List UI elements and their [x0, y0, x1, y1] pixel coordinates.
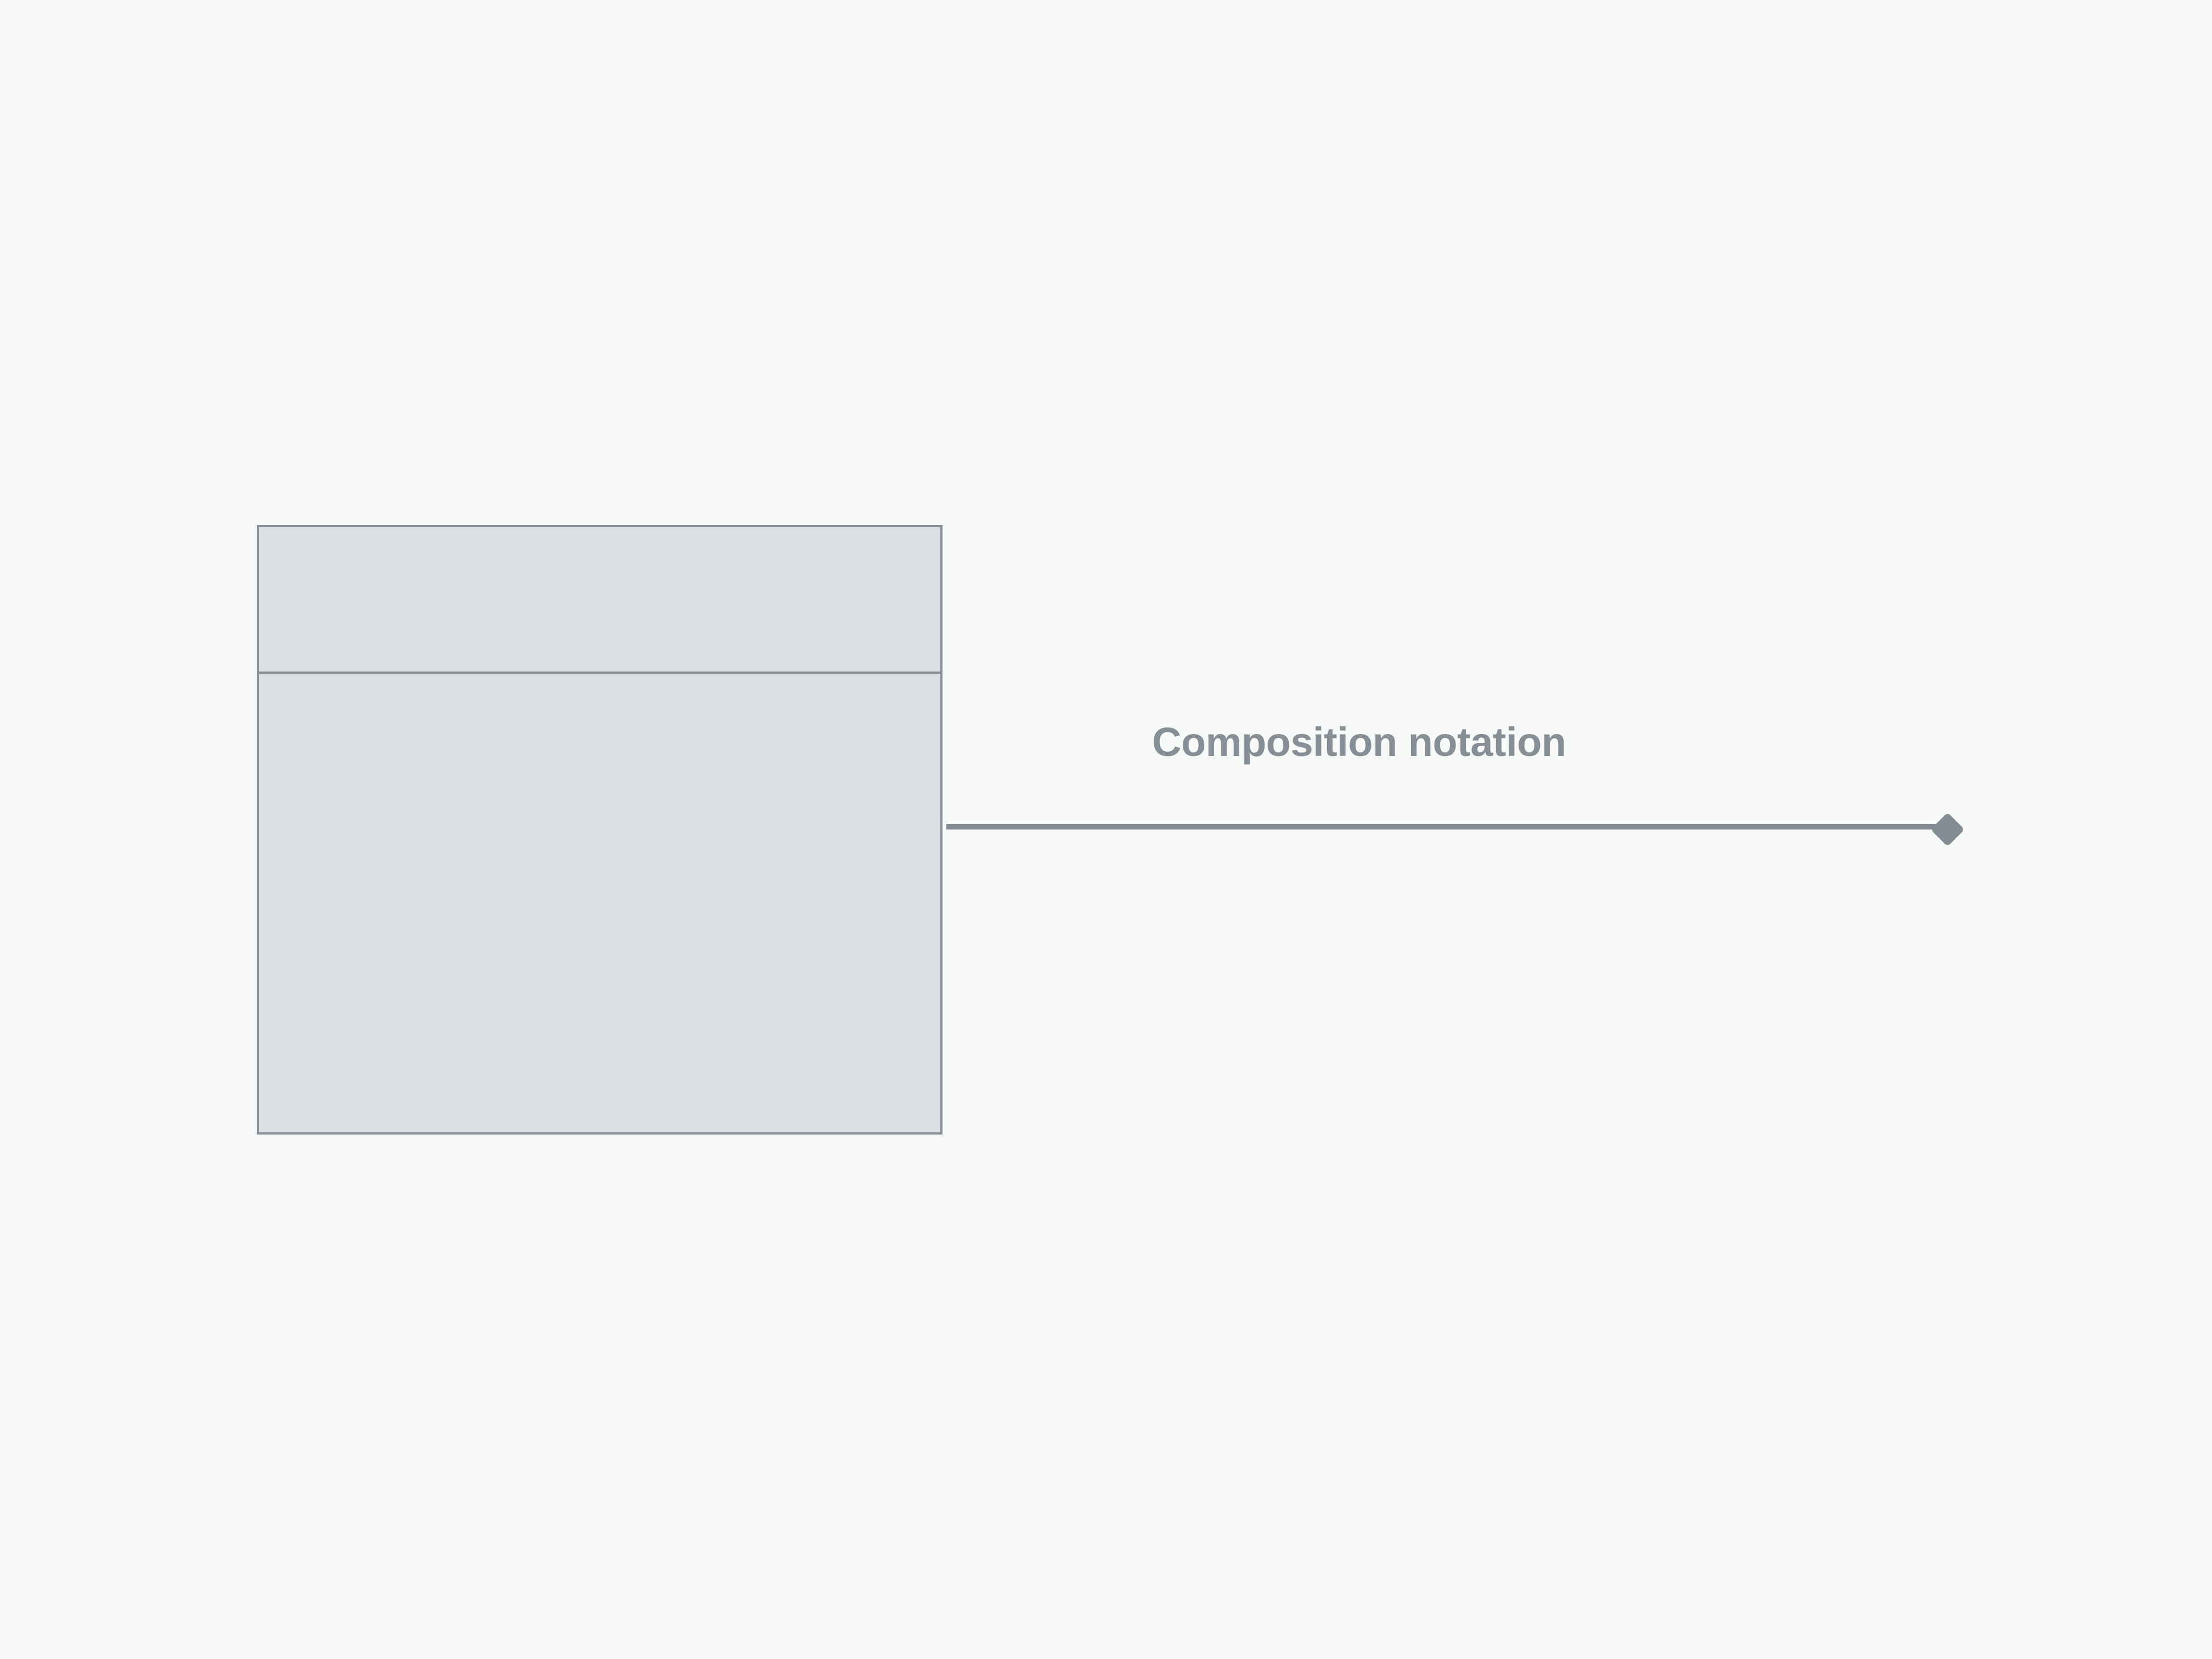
connector-label: Composition notation	[1152, 719, 1566, 765]
uml-class-header: Class	[259, 527, 940, 674]
diagram-canvas: Class - name of the - name of the - your…	[0, 0, 2212, 1659]
uml-class-box[interactable]: Class - name of the - name of the - your…	[257, 525, 943, 1135]
composition-connector-line[interactable]	[946, 824, 1938, 830]
uml-class-title: Class	[556, 581, 642, 618]
uml-attribute-row: - name of the	[297, 740, 902, 772]
uml-class-attributes: - name of the - name of the - your list	[259, 674, 940, 1132]
uml-attribute-row: - your list	[297, 843, 902, 876]
filled-diamond-icon	[1931, 812, 1965, 847]
uml-attribute-row: - name of the	[297, 791, 902, 824]
